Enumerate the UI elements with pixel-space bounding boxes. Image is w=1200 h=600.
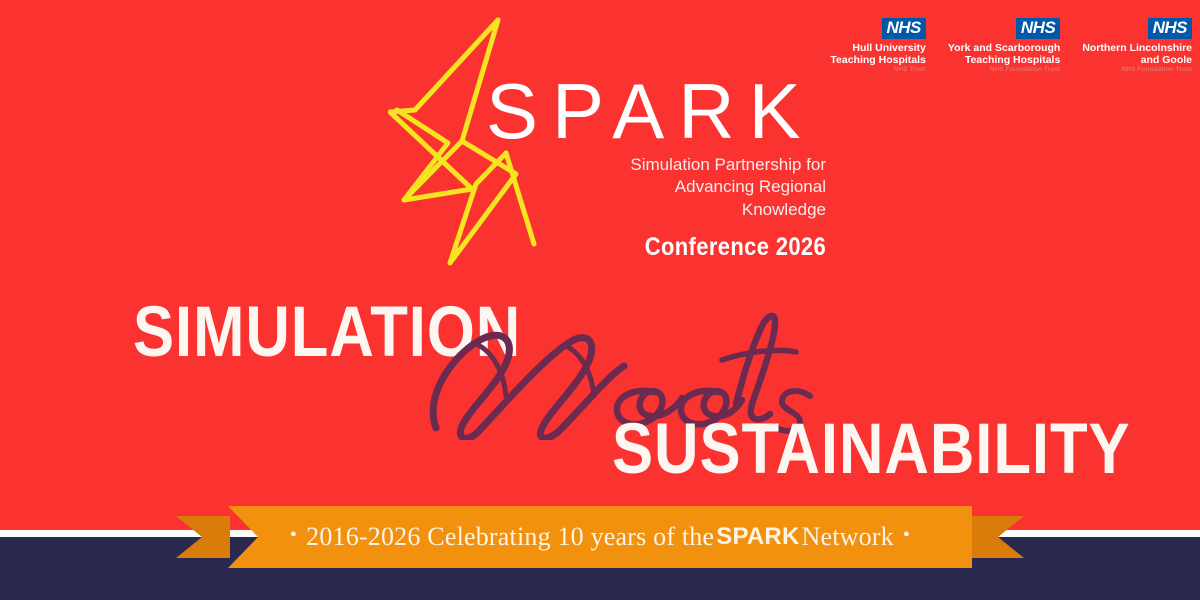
ribbon-text-after: Network — [802, 522, 894, 552]
nhs-trust-type: NHS Foundation Trust — [1082, 67, 1192, 74]
nhs-trust-name: Hull University Teaching Hospitals — [830, 42, 926, 67]
spark-logo-lockup: SPARK Simulation Partnership for Advanci… — [388, 14, 838, 276]
nhs-mark-icon: NHS — [882, 18, 926, 39]
nhs-logo-hull: NHS Hull University Teaching Hospitals N… — [830, 18, 926, 74]
nhs-mark-icon: NHS — [1148, 18, 1192, 39]
anniversary-ribbon: • 2016-2026 Celebrating 10 years of the … — [176, 506, 1024, 568]
nhs-logo-northern-lincolnshire-goole: NHS Northern Lincolnshire and Goole NHS … — [1082, 18, 1192, 74]
spark-conference-poster: NHS Hull University Teaching Hospitals N… — [0, 0, 1200, 600]
conference-year-label: Conference 2026 — [645, 233, 826, 262]
bullet-left-icon: • — [281, 524, 306, 547]
spark-wordmark: SPARK — [486, 72, 815, 150]
bullet-right-icon: • — [894, 524, 919, 547]
nhs-mark-icon: NHS — [1016, 18, 1060, 39]
nhs-partner-logos: NHS Hull University Teaching Hospitals N… — [830, 18, 1192, 74]
nhs-trust-name: Northern Lincolnshire and Goole — [1082, 42, 1192, 67]
nhs-trust-type: NHS Trust — [830, 67, 926, 74]
ribbon-text-before: 2016-2026 Celebrating 10 years of the — [306, 522, 714, 552]
ribbon-emphasis-spark: SPARK — [714, 523, 801, 551]
spark-tagline: Simulation Partnership for Advancing Reg… — [496, 154, 826, 221]
nhs-trust-name: York and Scarborough Teaching Hospitals — [948, 42, 1060, 67]
nhs-logo-york-scarborough: NHS York and Scarborough Teaching Hospit… — [948, 18, 1060, 74]
nhs-trust-type: NHS Foundation Trust — [948, 67, 1060, 74]
ribbon-caption: • 2016-2026 Celebrating 10 years of the … — [176, 506, 1024, 568]
